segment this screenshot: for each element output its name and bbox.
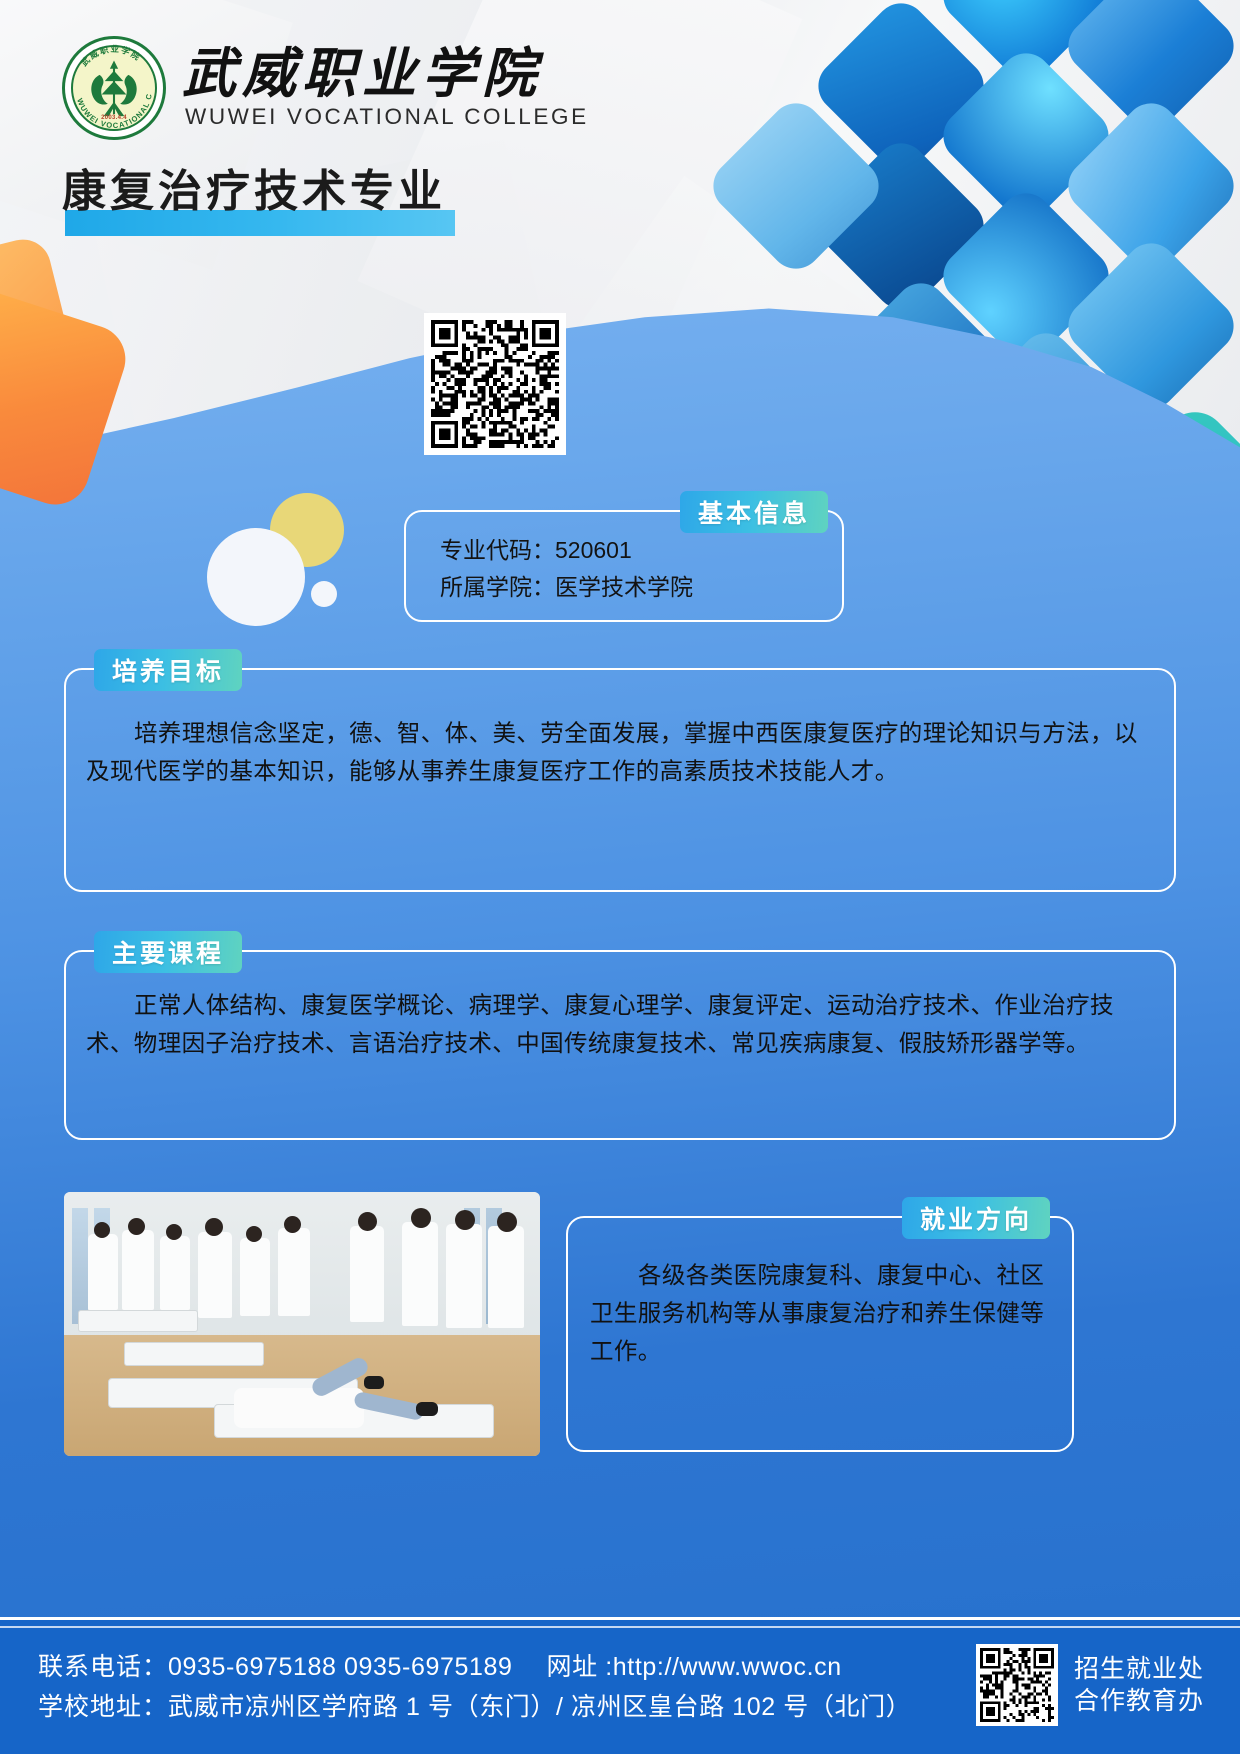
footer-dept-line1: 招生就业处 (1074, 1653, 1204, 1686)
qr-code-image (980, 1648, 1054, 1722)
qr-code-main[interactable] (424, 313, 566, 455)
college-name-cn: 武威职业学院 (182, 46, 589, 103)
basic-info-row: 所属学院：医学技术学院 (440, 569, 842, 606)
footer-address-value: 武威市凉州区学府路 1 号（东门）/ 凉州区皇台路 102 号（北门） (168, 1693, 911, 1721)
footer-phone-values: 0935-6975188 0935-6975189 (168, 1653, 512, 1681)
footer-department: 招生就业处 合作教育办 (1074, 1653, 1204, 1718)
employment-title: 就业方向 (902, 1197, 1050, 1239)
footer-phone-line: 联系电话：0935-6975188 0935-6975189网址 :http:/… (38, 1648, 911, 1688)
employment-body: 各级各类医院康复科、康复中心、社区卫生服务机构等从事康复治疗和养生保健等工作。 (568, 1218, 1072, 1370)
decor-circle-white (207, 528, 305, 626)
svg-text:武威职业学院: 武威职业学院 (79, 44, 143, 68)
main-courses-title: 主要课程 (94, 931, 242, 973)
footer-web-value[interactable]: http://www.wwoc.cn (613, 1653, 842, 1681)
classroom-photo (64, 1192, 540, 1456)
training-goal-title: 培养目标 (94, 649, 242, 691)
footer-bar: 联系电话：0935-6975188 0935-6975189网址 :http:/… (0, 1617, 1240, 1754)
footer-right-block: 招生就业处 合作教育办 (976, 1644, 1204, 1726)
footer-contact-block: 联系电话：0935-6975188 0935-6975189网址 :http:/… (38, 1648, 911, 1727)
college-name-en: WUWEI VOCATIONAL COLLEGE (182, 104, 589, 130)
qr-code-footer[interactable] (976, 1644, 1058, 1726)
poster-root: 2003.4.4 WUWEI VOCATIONAL COLLEGE 武威职业学院… (0, 0, 1240, 1754)
college-seal-logo: 2003.4.4 WUWEI VOCATIONAL COLLEGE 武威职业学院 (62, 36, 166, 140)
footer-divider-line (0, 1626, 1240, 1628)
training-goal-card: 培养目标 培养理想信念坚定，德、智、体、美、劳全面发展，掌握中西医康复医疗的理论… (64, 668, 1176, 892)
footer-address-line: 学校地址：武威市凉州区学府路 1 号（东门）/ 凉州区皇台路 102 号（北门） (38, 1688, 911, 1728)
footer-web-label: 网址 : (547, 1653, 613, 1681)
page-title: 康复治疗技术专业 (62, 170, 446, 214)
seal-arc-text: WUWEI VOCATIONAL COLLEGE 武威职业学院 (62, 36, 166, 140)
page-title-block: 康复治疗技术专业 (62, 170, 446, 214)
basic-info-card: 基本信息 专业代码：520601 所属学院：医学技术学院 (404, 510, 844, 622)
main-courses-card: 主要课程 正常人体结构、康复医学概论、病理学、康复心理学、康复评定、运动治疗技术… (64, 950, 1176, 1140)
employment-card: 就业方向 各级各类医院康复科、康复中心、社区卫生服务机构等从事康复治疗和养生保健… (566, 1216, 1074, 1452)
footer-address-label: 学校地址： (38, 1693, 168, 1721)
decor-circle-small (311, 581, 337, 607)
footer-dept-line2: 合作教育办 (1074, 1685, 1204, 1718)
basic-info-title: 基本信息 (680, 491, 828, 533)
qr-code-image (431, 320, 559, 448)
footer-phone-label: 联系电话： (38, 1653, 168, 1681)
brand-lockup: 2003.4.4 WUWEI VOCATIONAL COLLEGE 武威职业学院… (62, 36, 589, 140)
basic-info-row: 专业代码：520601 (440, 532, 842, 569)
